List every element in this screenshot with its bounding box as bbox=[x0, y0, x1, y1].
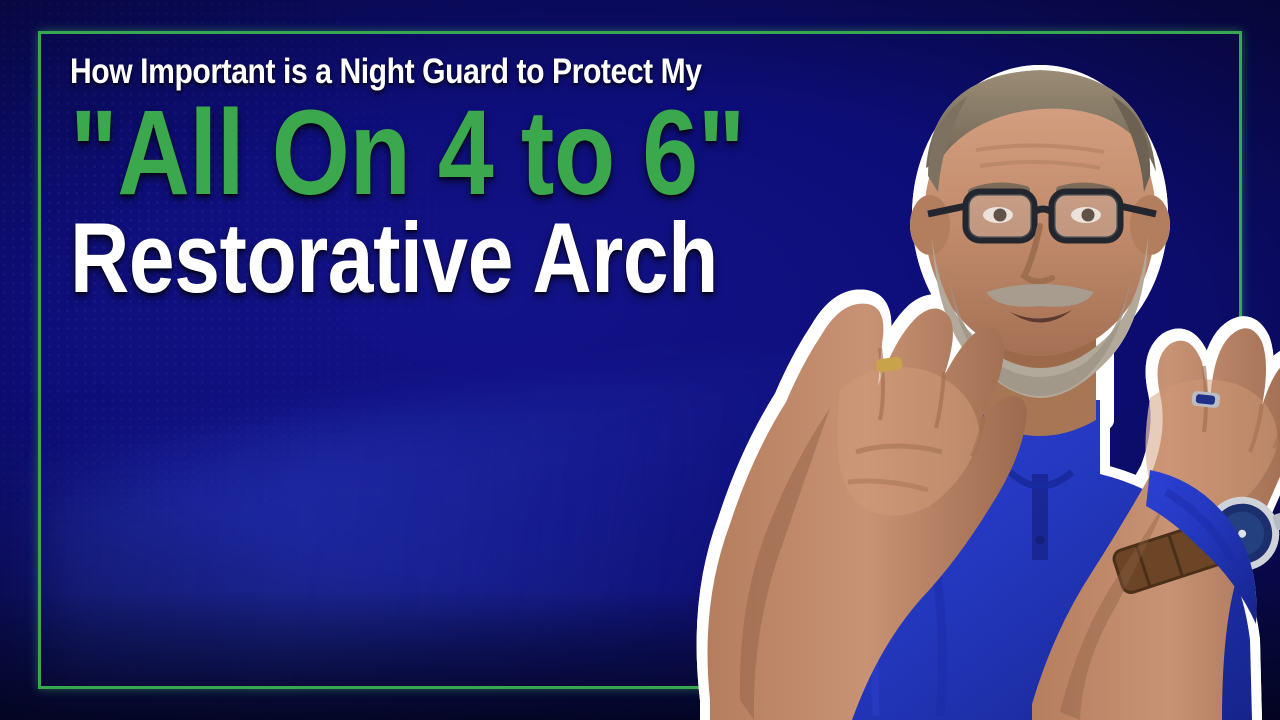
video-thumbnail: How Important is a Night Guard to Protec… bbox=[0, 0, 1280, 720]
title-main: Restorative Arch bbox=[70, 210, 684, 306]
presenter-cutout bbox=[680, 0, 1280, 720]
title-highlight: "All On 4 to 6" bbox=[70, 96, 684, 208]
